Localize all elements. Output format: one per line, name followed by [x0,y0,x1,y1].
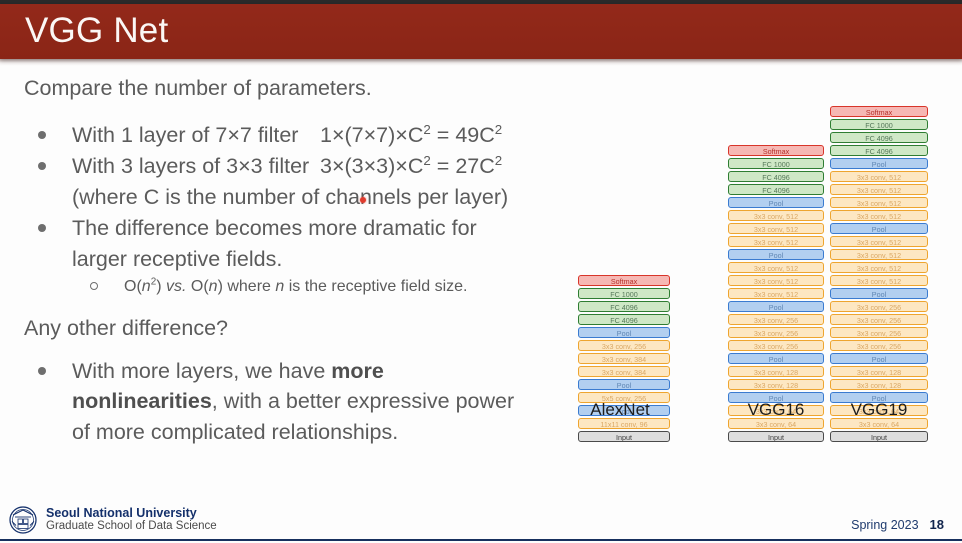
layer-box-conv: 3x3 conv, 512 [728,288,824,299]
bullet-dot-icon [38,131,46,139]
bullet-4-part-3: of more complicated relationships. [72,420,398,444]
sub-vs: vs. [166,278,186,295]
sub-d: ) where [218,278,276,295]
layer-stack: Input3x3 conv, 643x3 conv, 64Pool3x3 con… [728,145,824,442]
footer-meta: Spring 2023 18 [851,517,944,532]
question-text: Any other difference? [24,315,584,342]
layer-box-pool: Pool [578,379,670,390]
layer-stack: Input3x3 conv, 643x3 conv, 64Pool3x3 con… [830,106,928,442]
layer-box-pool: Pool [728,353,824,364]
snu-crest-icon [8,505,38,535]
network-column-alexnet: Input11x11 conv, 96Pool5x5 conv, 256Pool… [578,275,670,442]
sub-bullet-item: O(n2) vs. O(n) where n is the receptive … [72,276,584,298]
layer-box-pool: Pool [728,301,824,312]
layer-box-conv: 3x3 conv, 128 [728,366,824,377]
formula-1-sup-a: 2 [423,122,430,137]
formula-2-part-b: = 27C [431,154,495,178]
sub-n1: n [142,278,151,295]
formula-1-sup-b: 2 [495,122,502,137]
bullet-4-part-2: , with a better expressive power [212,389,514,413]
layer-box-conv: 3x3 conv, 512 [728,236,824,247]
bullet-2-formula: 3×(3×3)×C2 = 27C2 [320,151,502,182]
bullet-3-line-1: The difference becomes more dramatic for [72,216,477,240]
layer-box-fc: FC 4096 [578,301,670,312]
sub-e: is the receptive field size. [284,278,467,295]
term-label: Spring 2023 [851,518,918,532]
layer-box-conv: 3x3 conv, 256 [728,340,824,351]
bullet-item-1: With 1 layer of 7×7 filter 1×(7×7)×C2 = … [24,120,584,151]
sub-n2: n [209,278,218,295]
column-label-vgg16: VGG16 [728,400,824,420]
layer-box-conv: 3x3 conv, 384 [578,353,670,364]
layer-box-conv: 3x3 conv, 512 [830,249,928,260]
bullet-1-label: With 1 layer of 7×7 filter [72,120,320,151]
footer-logo-text: Seoul National University Graduate Schoo… [46,506,217,534]
layer-box-conv: 3x3 conv, 512 [728,223,824,234]
layer-box-conv: 3x3 conv, 256 [728,314,824,325]
bullet-item-2: With 3 layers of 3×3 filter 3×(3×3)×C2 =… [24,151,584,212]
layer-box-conv: 3x3 conv, 256 [830,327,928,338]
bullet-2-label: With 3 layers of 3×3 filter [72,151,320,182]
slide-header: VGG Net [0,4,962,59]
layer-box-conv: 3x3 conv, 512 [830,236,928,247]
layer-box-fc: FC 4096 [728,184,824,195]
secondary-bullet-list: With more layers, we have morenonlineari… [24,356,584,448]
sub-bullet-ring-icon [90,282,98,290]
layer-box-fc: FC 4096 [830,145,928,156]
sub-bullet-list: O(n2) vs. O(n) where n is the receptive … [72,276,584,298]
main-bullet-list: With 1 layer of 7×7 filter 1×(7×7)×C2 = … [24,120,584,299]
formula-2-sup-a: 2 [423,153,430,168]
formula-1-part-a: 1×(7×7)×C [320,123,423,147]
sub-n3: n [275,278,284,295]
formula-2-part-a: 3×(3×3)×C [320,154,423,178]
footer-logo: Seoul National University Graduate Schoo… [8,505,217,535]
formula-2-sup-b: 2 [495,153,502,168]
column-label-vgg19: VGG19 [830,400,928,420]
layer-box-conv: 3x3 conv, 512 [728,262,824,273]
layer-box-conv: 3x3 conv, 256 [830,314,928,325]
network-column-vgg19: Input3x3 conv, 643x3 conv, 64Pool3x3 con… [830,106,928,442]
bullet-4-bold-2: nonlinearities [72,389,212,413]
layer-box-fc: FC 4096 [728,171,824,182]
lead-text: Compare the number of parameters. [24,75,584,102]
layer-box-conv: 3x3 conv, 256 [728,327,824,338]
layer-box-pool: Pool [830,353,928,364]
layer-box-conv: 3x3 conv, 512 [830,262,928,273]
sub-a: O( [124,278,142,295]
layer-box-pool: Pool [578,327,670,338]
layer-box-conv: 3x3 conv, 128 [830,366,928,377]
page-number: 18 [930,517,944,532]
layer-box-fc: FC 1000 [830,119,928,130]
footer-rule [0,539,962,542]
layer-box-fc: FC 1000 [728,158,824,169]
layer-box-conv: 3x3 conv, 384 [578,366,670,377]
layer-box-conv: 3x3 conv, 256 [830,340,928,351]
layer-box-conv: 3x3 conv, 512 [830,275,928,286]
sub-c: O( [186,278,208,295]
layer-box-softmax: Softmax [578,275,670,286]
bullet-dot-icon [38,367,46,375]
school-name: Graduate School of Data Science [46,520,217,534]
page-title: VGG Net [25,11,168,51]
layer-box-pool: Pool [728,197,824,208]
bullet-1-formula: 1×(7×7)×C2 = 49C2 [320,120,502,151]
layer-box-conv: 3x3 conv, 256 [830,301,928,312]
network-column-vgg16: Input3x3 conv, 643x3 conv, 64Pool3x3 con… [728,145,824,442]
layer-box-input: Input [578,431,670,442]
layer-box-conv: 3x3 conv, 512 [830,197,928,208]
layer-box-conv: 3x3 conv, 128 [728,379,824,390]
slide-body: Compare the number of parameters. With 1… [24,75,584,448]
layer-box-pool: Pool [728,249,824,260]
layer-box-conv: 3x3 conv, 512 [830,210,928,221]
layer-box-pool: Pool [830,288,928,299]
formula-1-part-b: = 49C [431,123,495,147]
layer-box-conv: 3x3 conv, 512 [728,210,824,221]
layer-box-pool: Pool [830,158,928,169]
bullet-3-line-2: larger receptive fields. [72,247,282,271]
layer-box-input: Input [728,431,824,442]
layer-box-softmax: Softmax [728,145,824,156]
sub-b: ) [156,278,166,295]
layer-box-conv: 3x3 conv, 512 [830,184,928,195]
bullet-dot-icon [38,162,46,170]
layer-box-fc: FC 1000 [578,288,670,299]
bullet-4-part-1: With more layers, we have [72,359,331,383]
layer-box-fc: FC 4096 [578,314,670,325]
bullet-item-4: With more layers, we have morenonlineari… [24,356,584,448]
layer-box-fc: FC 4096 [830,132,928,143]
laser-pointer-dot [360,197,366,203]
layer-box-softmax: Softmax [830,106,928,117]
network-comparison-diagram: Input11x11 conv, 96Pool5x5 conv, 256Pool… [560,60,962,500]
layer-box-conv: 3x3 conv, 128 [830,379,928,390]
university-name: Seoul National University [46,506,217,520]
bullet-dot-icon [38,224,46,232]
layer-box-input: Input [830,431,928,442]
column-label-alexnet: AlexNet [574,400,666,420]
layer-box-conv: 3x3 conv, 512 [728,275,824,286]
layer-box-conv: 3x3 conv, 512 [830,171,928,182]
layer-box-conv: 3x3 conv, 256 [578,340,670,351]
slide-root: VGG Net Compare the number of parameters… [0,0,962,543]
layer-box-pool: Pool [830,223,928,234]
bullet-4-bold-1: more [331,359,384,383]
bullet-item-3: The difference becomes more dramatic for… [24,213,584,298]
channels-note: (where C is the number of channels per l… [72,185,508,209]
